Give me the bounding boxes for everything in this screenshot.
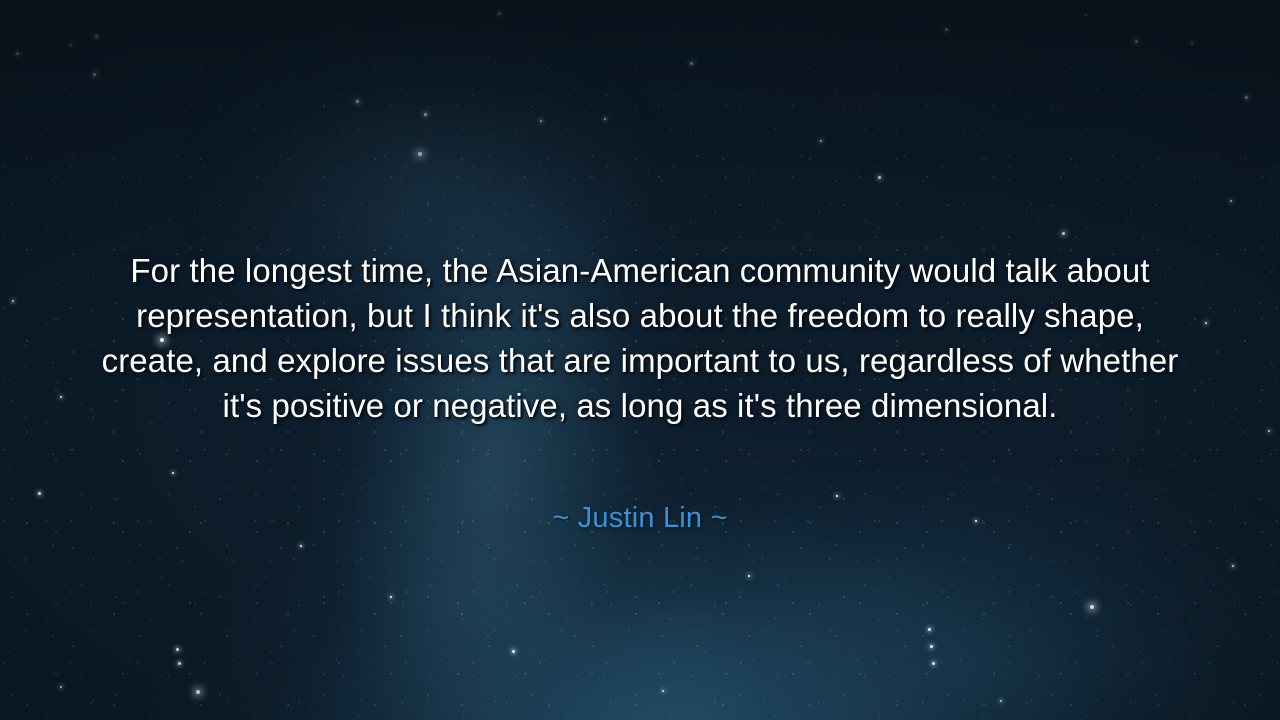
quote-text: For the longest time, the Asian-American… (96, 248, 1184, 428)
quote-block: For the longest time, the Asian-American… (0, 248, 1280, 428)
quote-attribution: ~ Justin Lin ~ (0, 500, 1280, 536)
quote-wallpaper: For the longest time, the Asian-American… (0, 0, 1280, 720)
